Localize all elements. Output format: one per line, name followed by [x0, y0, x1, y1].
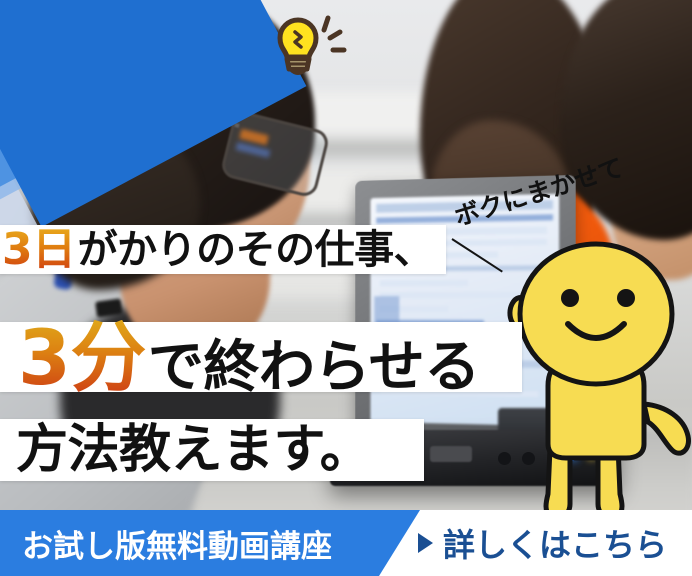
- headline-band-1: 3日 がかりのその仕事、: [0, 225, 446, 274]
- headline-band-3: 方法教えます。: [0, 419, 424, 481]
- promo-banner: ボクにまかせて 3日 がかりのその仕事、: [0, 0, 692, 576]
- headline-text-3: 方法教えます。: [16, 424, 371, 476]
- yellow-smiley-mascot: [498, 236, 692, 526]
- cta-badge[interactable]: お試し版無料動画講座: [0, 510, 420, 576]
- photo-laptop-touchpad: [430, 446, 472, 462]
- cta-details-link[interactable]: 詳しくはこちら: [418, 510, 667, 576]
- lightbulb-icon: [258, 6, 350, 84]
- play-triangle-icon: [418, 533, 433, 553]
- headline-text-1: がかりのその仕事、: [78, 230, 434, 270]
- headline-line-2: 3分 で終わらせる: [16, 300, 480, 396]
- cta-badge-label: お試し版無料動画講座: [22, 521, 332, 566]
- cta-link-label: 詳しくはこちら: [443, 520, 667, 566]
- headline-text-2: で終わらせる: [148, 340, 480, 396]
- headline-number-3min: 3分: [16, 320, 148, 396]
- cta-bar: お試し版無料動画講座 詳しくはこちら: [0, 510, 692, 576]
- headline-number-3days: 3日: [0, 228, 78, 272]
